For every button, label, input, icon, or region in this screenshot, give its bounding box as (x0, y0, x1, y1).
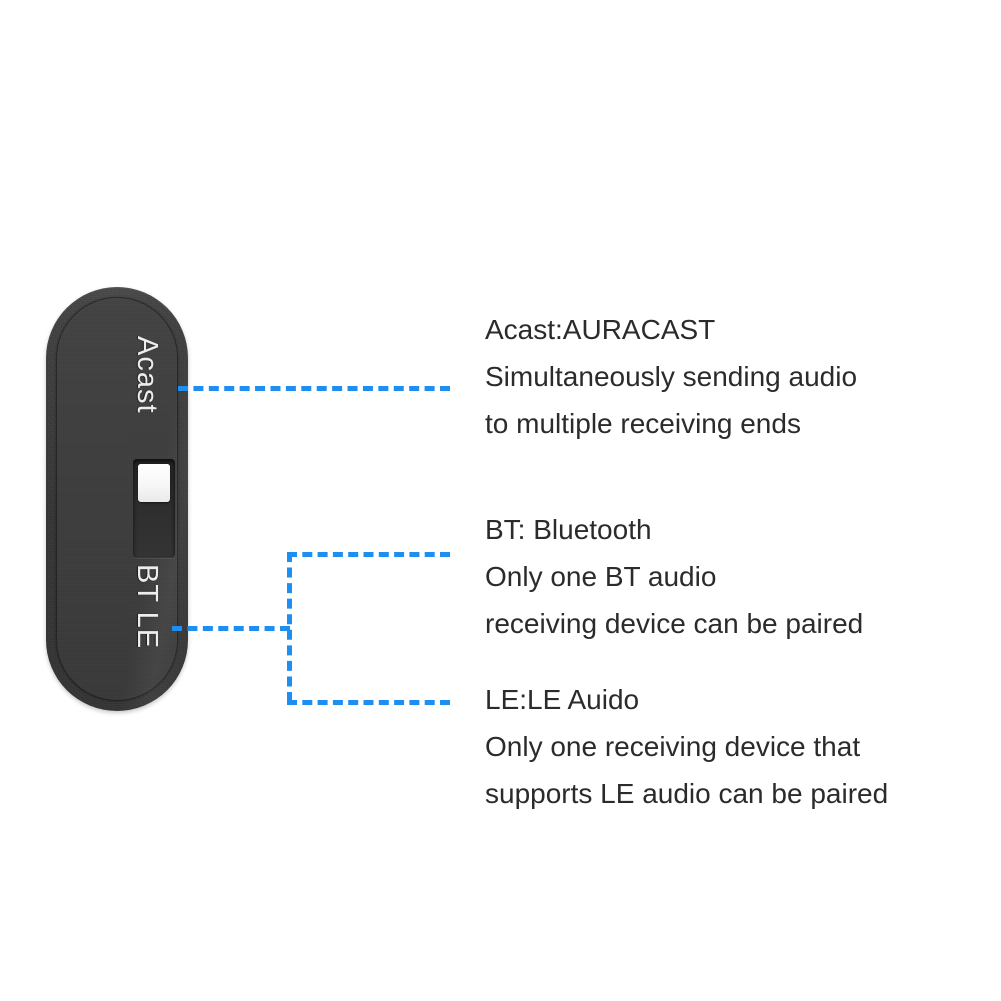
callout-acast-line-1: Simultaneously sending audio (485, 353, 857, 400)
callout-le-title: LE:LE Auido (485, 676, 888, 723)
leader-line-bracket-spine (287, 552, 292, 702)
leader-line-bt-le-stem (172, 626, 290, 631)
mode-switch-knob[interactable] (138, 464, 170, 502)
callout-acast: Acast:AURACAST Simultaneously sending au… (485, 306, 857, 447)
leader-line-le-branch (287, 700, 450, 705)
callout-le-line-2: supports LE audio can be paired (485, 770, 888, 817)
diagram-canvas: Acast BT LE Acast:AURACAST Simultaneousl… (0, 0, 1001, 1001)
device-label-acast: Acast (130, 336, 163, 414)
callout-bt: BT: Bluetooth Only one BT audio receivin… (485, 506, 863, 647)
callout-acast-title: Acast:AURACAST (485, 306, 857, 353)
callout-bt-title: BT: Bluetooth (485, 506, 863, 553)
callout-le-line-1: Only one receiving device that (485, 723, 888, 770)
leader-line-acast (178, 386, 450, 391)
callout-acast-line-2: to multiple receiving ends (485, 400, 857, 447)
callout-bt-line-1: Only one BT audio (485, 553, 863, 600)
leader-line-bt-branch (287, 552, 450, 557)
mode-slide-switch[interactable] (133, 459, 175, 558)
callout-le: LE:LE Auido Only one receiving device th… (485, 676, 888, 817)
callout-bt-line-2: receiving device can be paired (485, 600, 863, 647)
device-label-bt-le: BT LE (130, 564, 163, 649)
